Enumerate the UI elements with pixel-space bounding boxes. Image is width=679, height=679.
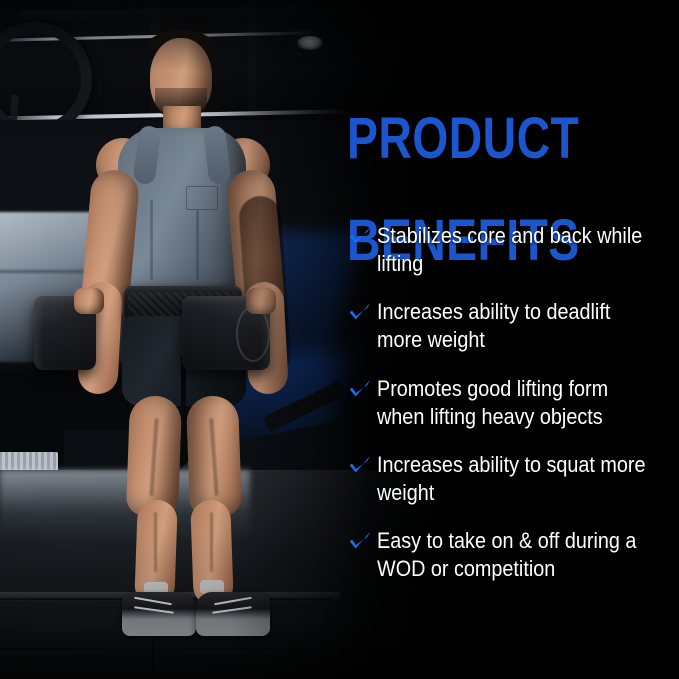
check-icon	[347, 529, 373, 554]
benefit-text: Promotes good lifting form when lifting …	[377, 375, 649, 431]
benefits-list: Stabilizes core and back while lifting I…	[347, 222, 679, 604]
product-benefits-graphic: PRODUCT BENEFITS Stabilizes core and bac…	[0, 0, 679, 679]
check-icon	[347, 300, 373, 325]
headline-line-1: PRODUCT	[347, 113, 611, 164]
check-icon	[347, 224, 373, 249]
list-item: Increases ability to squat more weight	[347, 451, 679, 507]
check-icon	[347, 377, 373, 402]
list-item: Stabilizes core and back while lifting	[347, 222, 679, 278]
benefit-text: Easy to take on & off during a WOD or co…	[377, 527, 649, 583]
benefits-panel: PRODUCT BENEFITS Stabilizes core and bac…	[345, 0, 679, 679]
benefit-text: Increases ability to deadlift more weigh…	[377, 298, 649, 354]
list-item: Promotes good lifting form when lifting …	[347, 375, 679, 431]
list-item: Easy to take on & off during a WOD or co…	[347, 527, 679, 583]
benefit-text: Stabilizes core and back while lifting	[377, 222, 649, 278]
list-item: Increases ability to deadlift more weigh…	[347, 298, 679, 354]
benefit-text: Increases ability to squat more weight	[377, 451, 649, 507]
check-icon	[347, 453, 373, 478]
